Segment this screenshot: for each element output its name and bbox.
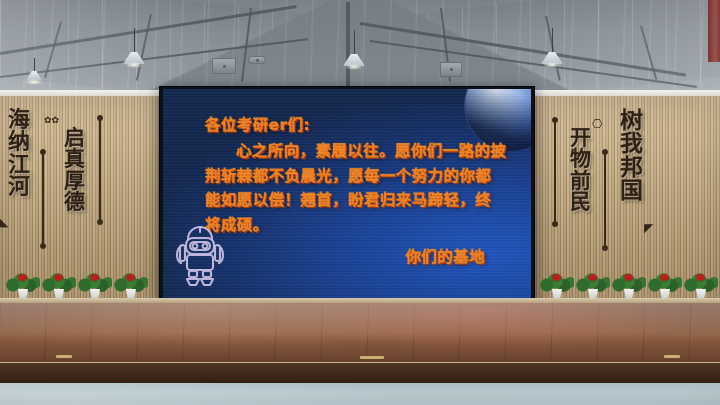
potted-flower <box>612 272 646 298</box>
wall-char: 树 <box>620 110 643 133</box>
wall-char: 民 <box>570 192 591 213</box>
led-screen-frame: 各位考研er们: 心之所向，素履以往。愿你们一路的披荆斩棘都不负晨光，愿每一个努… <box>159 86 535 304</box>
plant-flower <box>660 274 669 281</box>
potted-flower <box>42 272 76 298</box>
stage-front-riser <box>0 362 720 384</box>
plant-pot <box>125 289 137 298</box>
wall-char: 国 <box>620 180 643 203</box>
wall-char: 德 <box>64 192 85 213</box>
plant-pot <box>17 289 29 298</box>
hall-floor <box>0 383 720 405</box>
ceiling-vent-box <box>248 56 266 64</box>
wall-corner-decoration: ◤ <box>644 222 653 234</box>
potted-flower <box>540 272 574 298</box>
pendant-lamp <box>122 28 146 72</box>
wall-char: 河 <box>8 177 30 199</box>
plant-flower <box>624 274 633 281</box>
stage-floor-tape-marker <box>56 355 72 358</box>
wall-divider-rule <box>554 120 556 224</box>
wall-char: 前 <box>570 171 591 192</box>
plant-pot <box>587 289 599 298</box>
stage-floor <box>0 303 720 365</box>
wall-char: 江 <box>8 155 30 177</box>
plant-flower <box>552 274 561 281</box>
lamp-glow <box>345 64 363 70</box>
wall-floret-decoration: ✿✿ <box>44 116 59 125</box>
wall-phrase-haina: 海 纳 江 河 <box>8 110 30 200</box>
plant-flower <box>90 274 99 281</box>
potted-flower <box>648 272 682 298</box>
wall-divider-rule <box>99 118 101 222</box>
ceiling-vent-box <box>212 58 236 74</box>
lamp-glow <box>543 62 561 68</box>
lamp-rod <box>552 28 553 54</box>
wall-char: 真 <box>64 149 85 170</box>
message-signature: 你们的基地 <box>205 245 507 269</box>
led-screen[interactable]: 各位考研er们: 心之所向，素履以往。愿你们一路的披荆斩棘都不负晨光，愿每一个努… <box>163 89 531 300</box>
plant-pot <box>695 289 707 298</box>
robot-mascot <box>171 222 229 288</box>
wall-emblem-decoration: ⎔ <box>592 118 602 130</box>
plant-flower <box>696 274 705 281</box>
ceiling-vent-box <box>440 62 462 77</box>
potted-flower <box>576 272 610 298</box>
wall-divider-rule <box>604 152 606 248</box>
message-greeting: 各位考研er们: <box>205 113 507 137</box>
plant-pot <box>659 289 671 298</box>
lamp-glow <box>25 79 43 85</box>
potted-flower <box>6 272 40 298</box>
lamp-glow <box>125 62 143 68</box>
pendant-lamp <box>24 58 44 94</box>
wall-char: 邦 <box>620 157 643 180</box>
lamp-rod <box>134 28 135 54</box>
potted-flower <box>78 272 112 298</box>
potted-flower <box>114 272 148 298</box>
wall-char: 我 <box>620 133 643 156</box>
wall-corner-decoration: ◣ <box>0 218 8 229</box>
stage-floor-tape-marker <box>360 356 384 359</box>
stage-photograph: 海 纳 江 河 启 真 厚 德 ✿✿ ◣ 开 物 前 民 树 我 邦 国 <box>0 0 720 405</box>
lamp-rod <box>354 30 355 56</box>
message-body: 心之所向，素履以往。愿你们一路的披荆斩棘都不负晨光，愿每一个努力的你都能如愿以偿… <box>205 139 507 237</box>
wall-phrase-kaiwu: 开 物 前 民 <box>570 128 591 214</box>
plant-pot <box>53 289 65 298</box>
plant-pot <box>551 289 563 298</box>
plant-flower <box>54 274 63 281</box>
pendant-lamp <box>540 28 564 72</box>
potted-flower <box>684 272 718 298</box>
plant-pot <box>89 289 101 298</box>
wall-char: 厚 <box>64 171 85 192</box>
stage-floor-tape-marker <box>664 355 680 358</box>
plant-pot <box>623 289 635 298</box>
plant-flower <box>126 274 135 281</box>
plant-flower <box>588 274 597 281</box>
hall-red-post <box>708 0 720 62</box>
pendant-lamp <box>342 30 366 74</box>
plant-flower <box>18 274 27 281</box>
hall-floor-sheen <box>0 383 720 405</box>
wall-phrase-shuwo: 树 我 邦 国 <box>620 110 643 204</box>
lamp-rod <box>34 58 35 72</box>
wall-phrase-qizhen: 启 真 厚 德 <box>64 128 85 214</box>
ceiling <box>0 0 720 96</box>
wall-divider-rule <box>42 152 44 246</box>
wall-char: 物 <box>570 149 591 170</box>
wall-char: 纳 <box>8 132 30 154</box>
